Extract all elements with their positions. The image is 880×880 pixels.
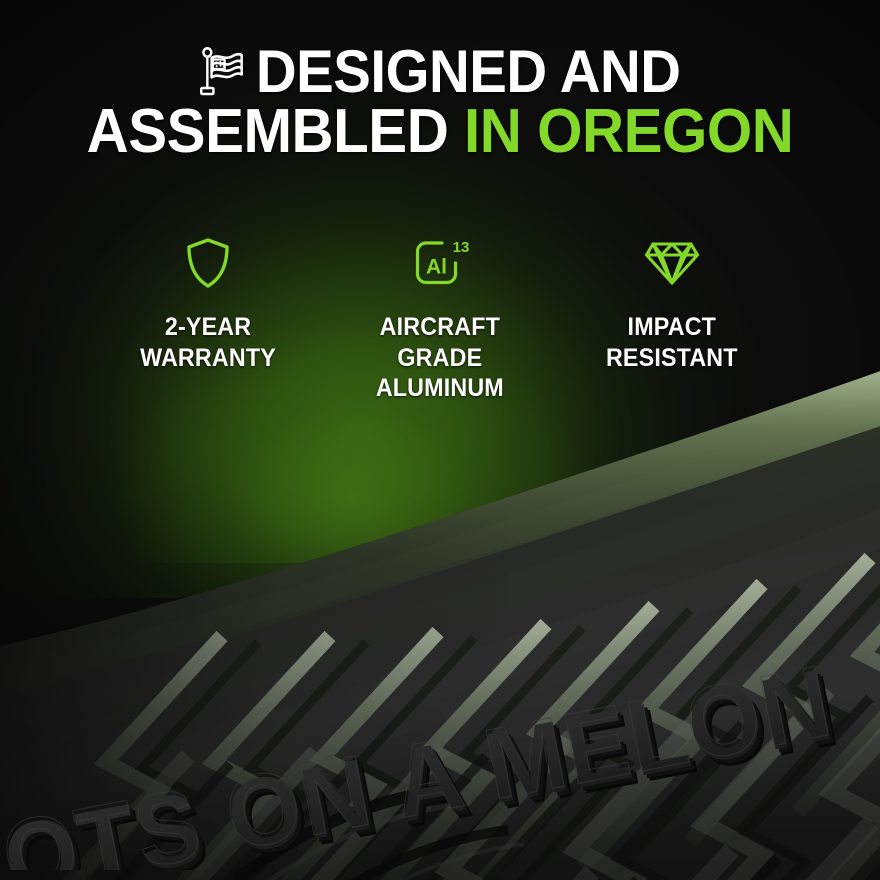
product-illustration [0, 360, 880, 880]
marketing-banner: OTS ON A MELON OTS ON A MELON OTS ON A M… [0, 0, 880, 880]
feature-warranty: 2-YEAR WARRANTY [92, 236, 324, 373]
feature-aluminum: Al 13 AIRCRAFT GRADE ALUMINUM [324, 236, 556, 404]
aluminum-symbol: Al [426, 256, 447, 279]
headline-line-2: ASSEMBLED IN OREGON [26, 103, 853, 160]
product-barrel [0, 360, 880, 880]
feature-aluminum-icon-wrap: Al 13 [411, 236, 469, 290]
feature-impact-icon-wrap [643, 236, 701, 290]
headline-text-2-green: IN OREGON [464, 97, 793, 166]
feature-warranty-label: 2-YEAR WARRANTY [140, 312, 276, 373]
shield-icon [182, 236, 234, 290]
headline-text-1: DESIGNED AND [256, 38, 681, 105]
headline-text-2-white: ASSEMBLED [87, 97, 464, 166]
product-image [0, 360, 880, 880]
feature-list: 2-YEAR WARRANTY Al 13 AIRCRAFT GRADE ALU… [0, 236, 880, 404]
feature-warranty-icon-wrap [182, 236, 234, 290]
feature-aluminum-label: AIRCRAFT GRADE ALUMINUM [376, 312, 504, 404]
headline: DESIGNED AND ASSEMBLED IN OREGON [0, 44, 880, 160]
aluminum-atomic-number: 13 [453, 239, 469, 256]
usa-flag-icon [199, 46, 244, 96]
aluminum-element-icon: Al 13 [411, 236, 469, 290]
headline-line-1: DESIGNED AND [26, 44, 853, 99]
feature-impact: IMPACT RESISTANT [556, 236, 788, 373]
diamond-icon [643, 238, 701, 288]
feature-impact-label: IMPACT RESISTANT [606, 312, 738, 373]
